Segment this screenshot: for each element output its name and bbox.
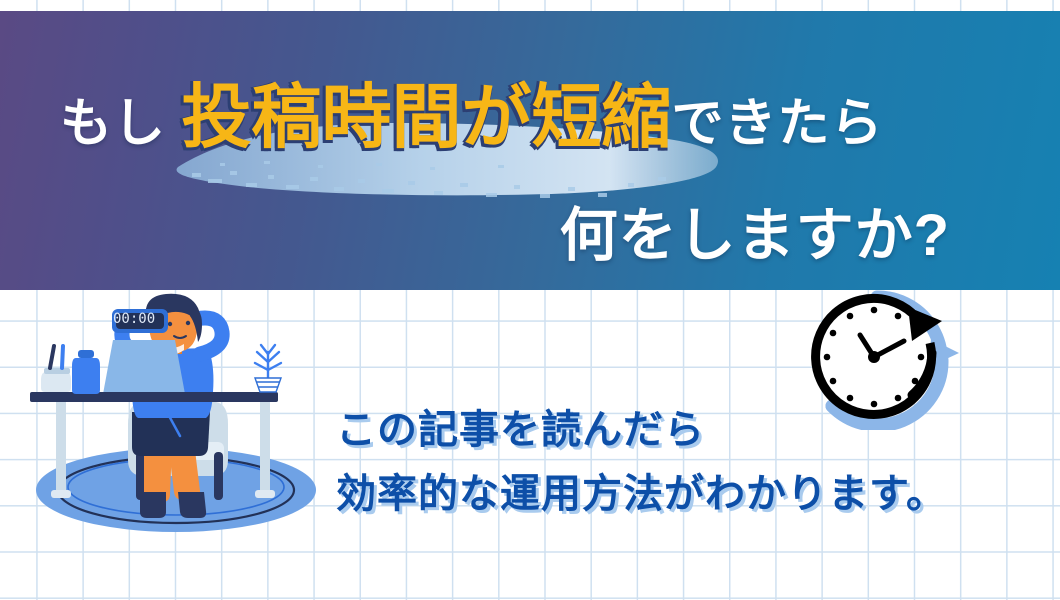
clock-refresh-icon [800,285,990,430]
water-bottle-icon [72,350,100,394]
timer-value: 00:00 [113,311,155,327]
headline-block: もし 投稿時間が短縮できたら 何をしますか? [0,22,1060,290]
headline-line-1: もし 投稿時間が短縮できたら [60,82,1000,152]
potted-plant-icon [255,345,281,392]
headline-prefix: もし [60,95,181,153]
headline-highlight: 投稿時間が短縮 [181,78,671,156]
headline-suffix: できたら [671,95,883,153]
headline-question: 何をしますか? [560,203,950,268]
header-banner: もし 投稿時間が短縮できたら 何をしますか? [0,11,1060,290]
desk-top [30,392,278,402]
pen-holder-icon [41,346,71,392]
laptop-icon [98,340,190,398]
headline-line-2: 何をしますか? [60,207,950,265]
poster-canvas: もし 投稿時間が短縮できたら 何をしますか? この記事を読んだら 効率的な運用方… [0,0,1060,600]
person-relaxing-illustration [18,292,338,542]
body-copy-line-2: 効率的な運用方法がわかります。 [336,462,1036,526]
